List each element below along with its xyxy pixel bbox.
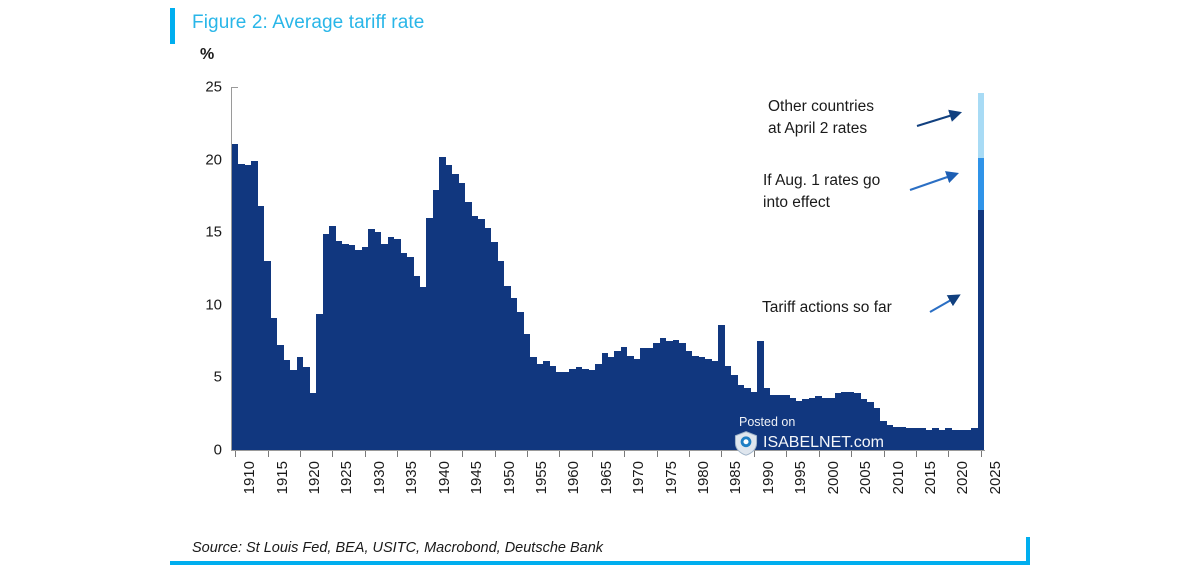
chart-bar	[887, 425, 893, 450]
x-axis-tick-mark	[397, 451, 398, 457]
chart-bar	[388, 237, 394, 450]
chart-bar	[822, 398, 828, 450]
annotation-tariff-actions: Tariff actions so far	[762, 297, 892, 319]
chart-bar	[828, 398, 834, 450]
chart-bar	[764, 388, 770, 450]
x-axis-tick-mark	[721, 451, 722, 457]
chart-bar	[329, 226, 335, 450]
figure-container: Figure 2: Average tariff rate % 05101520…	[0, 0, 1200, 575]
chart-bar	[569, 369, 575, 450]
chart-bar	[932, 428, 938, 450]
chart-bar	[517, 312, 523, 450]
x-axis-tick-label: 1950	[501, 461, 518, 494]
x-axis-line	[231, 450, 985, 451]
chart-bar	[802, 399, 808, 450]
plot-area	[232, 87, 984, 450]
y-axis-tick-label: 20	[0, 151, 222, 168]
chart-bar	[401, 253, 407, 450]
chart-bar	[602, 353, 608, 450]
chart-bar	[524, 334, 530, 450]
x-axis-tick-mark	[884, 451, 885, 457]
chart-bar	[958, 430, 964, 450]
chart-bar	[809, 398, 815, 450]
chart-bar	[303, 367, 309, 450]
chart-bar	[284, 360, 290, 450]
chart-bar	[634, 359, 640, 450]
x-axis-tick-mark	[624, 451, 625, 457]
chart-bar	[238, 164, 244, 450]
chart-bar	[251, 161, 257, 450]
chart-bar	[718, 325, 724, 450]
annotation-arrow-other-countries	[915, 104, 970, 134]
chart-bar	[459, 183, 465, 450]
chart-bar	[679, 343, 685, 450]
x-axis-tick-mark	[495, 451, 496, 457]
chart-bar	[342, 244, 348, 450]
chart-bar	[744, 388, 750, 450]
chart-bar	[874, 408, 880, 450]
chart-bar	[692, 356, 698, 450]
chart-bar	[556, 372, 562, 450]
chart-bar	[647, 348, 653, 450]
chart-bar	[452, 174, 458, 450]
chart-bar	[614, 351, 620, 450]
x-axis-tick-mark	[786, 451, 787, 457]
annotation-aug-1-rates: If Aug. 1 rates go into effect	[763, 170, 880, 215]
x-axis-tick-mark	[268, 451, 269, 457]
x-axis-tick-mark	[981, 451, 982, 457]
chart-bar	[952, 430, 958, 450]
chart-bar	[893, 427, 899, 450]
chart-bar-segment	[978, 210, 984, 450]
chart-bar	[491, 242, 497, 450]
x-axis-tick-label: 1910	[241, 461, 258, 494]
chart-bar	[686, 351, 692, 450]
x-axis-tick-label: 1920	[306, 461, 323, 494]
chart-bar	[563, 372, 569, 450]
chart-bar	[511, 298, 517, 450]
chart-bar	[439, 157, 445, 450]
chart-bar	[446, 165, 452, 450]
chart-bar	[394, 239, 400, 450]
chart-bar	[485, 228, 491, 450]
page-title: Figure 2: Average tariff rate	[192, 12, 424, 34]
chart-bar	[926, 430, 932, 450]
chart-bar	[258, 206, 264, 450]
x-axis-tick-label: 1930	[371, 461, 388, 494]
y-axis-tick-label: 15	[0, 224, 222, 241]
x-axis-tick-label: 1925	[338, 461, 355, 494]
x-axis-tick-label: 1990	[760, 461, 777, 494]
x-axis-tick-mark	[819, 451, 820, 457]
chart-bar	[945, 428, 951, 450]
x-axis-tick-mark	[365, 451, 366, 457]
chart-bar	[848, 392, 854, 450]
annotation-arrow-tariff-actions	[928, 288, 970, 318]
x-axis-tick-label: 1975	[663, 461, 680, 494]
chart-bar	[472, 216, 478, 450]
x-axis-tick-label: 2015	[922, 461, 939, 494]
chart-bar	[621, 347, 627, 450]
x-axis-tick-label: 2020	[954, 461, 971, 494]
chart-bar	[790, 398, 796, 450]
chart-bar	[316, 314, 322, 450]
chart-bar	[589, 370, 595, 450]
chart-bar	[362, 247, 368, 450]
source-note: Source: St Louis Fed, BEA, USITC, Macrob…	[192, 540, 603, 556]
chart-bar	[627, 356, 633, 450]
chart-bar	[965, 430, 971, 450]
chart-bar	[673, 340, 679, 450]
x-axis-tick-mark	[592, 451, 593, 457]
chart-bar	[414, 276, 420, 450]
chart-bar	[900, 427, 906, 450]
x-axis-tick-label: 1945	[468, 461, 485, 494]
chart-bar	[699, 357, 705, 450]
chart-bar	[433, 190, 439, 450]
x-axis-tick-mark	[916, 451, 917, 457]
chart-bar	[349, 245, 355, 450]
chart-bar	[368, 229, 374, 450]
x-axis-tick-mark	[559, 451, 560, 457]
x-axis-tick-mark	[948, 451, 949, 457]
chart-bar-segment	[978, 158, 984, 210]
chart-bar	[939, 430, 945, 450]
chart-bar-segment	[978, 93, 984, 158]
x-axis-tick-label: 2000	[825, 461, 842, 494]
chart-bar	[815, 396, 821, 450]
chart-bar	[770, 395, 776, 450]
x-axis-tick-label: 2005	[857, 461, 874, 494]
chart-bar	[310, 393, 316, 450]
chart-bar	[323, 234, 329, 450]
y-axis-tick-label: 25	[0, 79, 222, 96]
x-axis-tick-label: 1995	[792, 461, 809, 494]
y-axis-tick-label: 0	[0, 442, 222, 459]
x-axis-tick-label: 1915	[274, 461, 291, 494]
x-axis-tick-label: 1940	[436, 461, 453, 494]
x-axis-tick-mark	[689, 451, 690, 457]
chart-bar	[245, 165, 251, 450]
chart-bar	[297, 357, 303, 450]
x-axis-tick-label: 1970	[630, 461, 647, 494]
chart-bar	[576, 367, 582, 450]
y-axis-tick-label: 10	[0, 296, 222, 313]
chart-bar	[537, 364, 543, 450]
chart-bar	[653, 343, 659, 450]
x-axis-tick-label: 1935	[403, 461, 420, 494]
x-axis-tick-label: 1980	[695, 461, 712, 494]
chart-bar	[725, 366, 731, 450]
chart-bar	[465, 202, 471, 450]
x-axis-tick-mark	[332, 451, 333, 457]
chart-bar	[757, 341, 763, 450]
x-axis-tick-mark	[235, 451, 236, 457]
chart-bar	[426, 218, 432, 450]
annotation-arrow-aug-1-rates	[908, 165, 968, 197]
title-accent-bar	[170, 8, 175, 44]
x-axis-tick-mark	[754, 451, 755, 457]
x-axis-tick-label: 1965	[598, 461, 615, 494]
y-axis-tick-label: 5	[0, 369, 222, 386]
chart-bar	[595, 364, 601, 450]
chart-bar	[841, 392, 847, 450]
chart-bar	[777, 395, 783, 450]
chart-bar	[582, 369, 588, 450]
chart-bar	[712, 361, 718, 450]
x-axis-tick-label: 1960	[565, 461, 582, 494]
x-axis-tick-label: 2025	[987, 461, 1004, 494]
chart-bar	[906, 428, 912, 450]
x-axis-tick-label: 1985	[727, 461, 744, 494]
x-axis-tick-label: 2010	[890, 461, 907, 494]
chart-bar	[867, 402, 873, 450]
chart-bar	[264, 261, 270, 450]
chart-bar	[381, 244, 387, 450]
chart-bar	[375, 232, 381, 450]
x-axis-tick-mark	[657, 451, 658, 457]
x-axis-tick-mark	[300, 451, 301, 457]
chart-bar	[783, 395, 789, 450]
annotation-other-countries: Other countries at April 2 rates	[768, 96, 874, 141]
chart-bar	[640, 348, 646, 450]
chart-bar	[277, 345, 283, 450]
chart-bar	[913, 428, 919, 450]
chart-bar	[751, 392, 757, 450]
x-axis-tick-mark	[851, 451, 852, 457]
x-axis-tick-mark	[430, 451, 431, 457]
chart-bar	[498, 261, 504, 450]
chart-bar	[407, 257, 413, 450]
chart-bar	[550, 366, 556, 450]
x-axis-tick-label: 1955	[533, 461, 550, 494]
footer-accent-rule	[170, 561, 1030, 565]
x-axis-tick-mark	[527, 451, 528, 457]
chart-bar	[861, 399, 867, 450]
footer-corner-accent	[1026, 537, 1030, 565]
x-axis-tick-mark	[462, 451, 463, 457]
chart-bar	[336, 241, 342, 450]
chart-bar	[880, 421, 886, 450]
chart-bar	[971, 428, 977, 450]
y-axis-unit-label: %	[200, 46, 214, 64]
chart-bar	[530, 357, 536, 450]
chart-bar	[835, 393, 841, 450]
chart-bar	[660, 338, 666, 450]
chart-bar	[504, 286, 510, 450]
chart-bar	[705, 359, 711, 450]
chart-bar	[271, 318, 277, 450]
chart-bar	[738, 385, 744, 450]
